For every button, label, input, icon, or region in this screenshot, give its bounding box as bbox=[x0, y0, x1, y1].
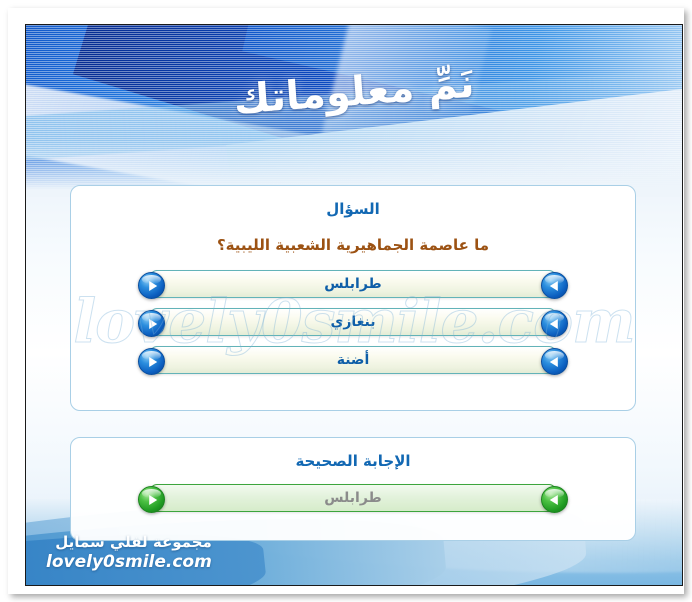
page-frame: نَمِّ معلوماتك lovely0smile.com السؤال م… bbox=[0, 0, 692, 602]
play-right-arrow-icon[interactable] bbox=[138, 310, 165, 337]
footer-branding: مجموعة لفلي سمايل lovely0smile.com bbox=[46, 533, 212, 573]
question-panel-title: السؤال bbox=[71, 200, 635, 218]
slide-canvas: نَمِّ معلوماتك lovely0smile.com السؤال م… bbox=[25, 24, 683, 586]
correct-answer-row[interactable]: طرابلس bbox=[138, 484, 568, 514]
option-label[interactable]: بنغازي bbox=[150, 308, 556, 336]
frame-shadow: نَمِّ معلوماتك lovely0smile.com السؤال م… bbox=[8, 8, 684, 594]
play-right-arrow-icon[interactable] bbox=[138, 272, 165, 299]
footer-arabic-text: مجموعة لفلي سمايل bbox=[46, 533, 212, 552]
correct-answer-panel: الإجابة الصحيحة طرابلس bbox=[70, 437, 636, 541]
option-row[interactable]: بنغازي bbox=[138, 308, 568, 338]
correct-answer-label: طرابلس bbox=[150, 484, 556, 512]
footer-url[interactable]: lovely0smile.com bbox=[46, 552, 212, 573]
play-left-arrow-icon[interactable] bbox=[541, 310, 568, 337]
option-label[interactable]: طرابلس bbox=[150, 270, 556, 298]
play-left-arrow-icon[interactable] bbox=[541, 486, 568, 513]
play-right-arrow-icon[interactable] bbox=[138, 348, 165, 375]
question-text: ما عاصمة الجماهيرية الشعبية الليبية؟ bbox=[71, 236, 635, 254]
answer-options-list: طرابلس بنغازي bbox=[71, 270, 635, 376]
play-right-arrow-icon[interactable] bbox=[138, 486, 165, 513]
correct-answer-wrap: طرابلس bbox=[71, 484, 635, 514]
play-left-arrow-icon[interactable] bbox=[541, 272, 568, 299]
option-row[interactable]: أضنة bbox=[138, 346, 568, 376]
header-banner: نَمِّ معلوماتك bbox=[26, 25, 682, 197]
play-left-arrow-icon[interactable] bbox=[541, 348, 568, 375]
question-panel: السؤال ما عاصمة الجماهيرية الشعبية الليب… bbox=[70, 185, 636, 411]
option-label[interactable]: أضنة bbox=[150, 346, 556, 374]
correct-answer-title: الإجابة الصحيحة bbox=[71, 452, 635, 470]
option-row[interactable]: طرابلس bbox=[138, 270, 568, 300]
